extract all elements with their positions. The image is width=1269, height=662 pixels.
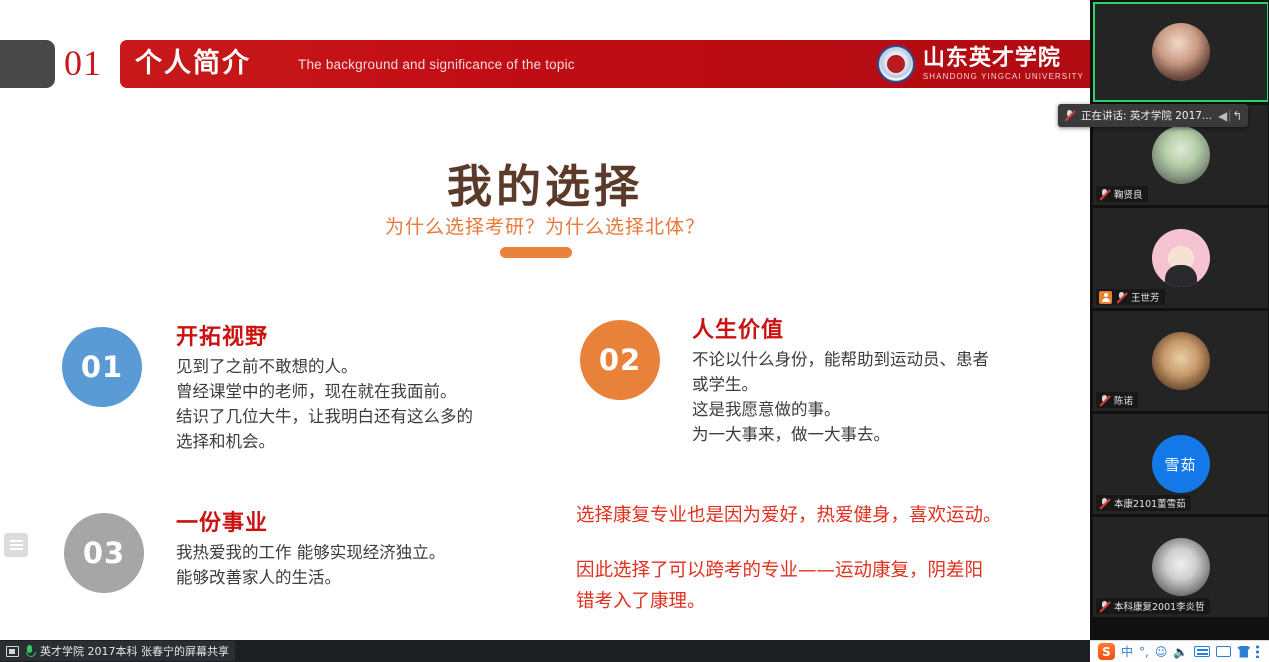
slide-subtitle: 为什么选择考研？为什么选择北体？ <box>0 212 1090 239</box>
red-note-line-2: 因此选择了可以跨考的专业——运动康复，阴差阳 <box>576 555 983 586</box>
ime-language-mode[interactable]: 中 <box>1121 646 1133 658</box>
mic-muted-icon <box>1099 497 1110 510</box>
header-english-subtitle: The background and significance of the t… <box>298 40 575 88</box>
block-heading-03: 一份事业 <box>176 505 445 537</box>
block-line: 或学生。 <box>692 372 989 397</box>
participant-tile[interactable]: 陈诺 <box>1093 311 1268 411</box>
red-note-line-1: 选择康复专业也是因为爱好，热爱健身，喜欢运动。 <box>576 500 1002 531</box>
participant-name: 鞠贤良 <box>1114 187 1143 201</box>
header-section-number: 01 <box>64 39 102 87</box>
block-heading-02: 人生价值 <box>692 312 989 344</box>
taskbar: 英才学院 2017本科 张春宁的屏幕共享 <box>0 640 1269 662</box>
university-logo: 山东英才学院 SHANDONG YINGCAI UNIVERSITY <box>877 40 1084 88</box>
host-icon <box>1099 291 1112 304</box>
slide-menu-button[interactable] <box>4 533 28 557</box>
avatar <box>1152 23 1210 81</box>
participant-label: 陈诺 <box>1096 392 1138 408</box>
participant-tile[interactable]: 本科康复2001李炎哲 <box>1093 517 1268 617</box>
mic-muted-icon <box>1064 109 1075 122</box>
taskbar-window-title: 英才学院 2017本科 张春宁的屏幕共享 <box>40 643 229 659</box>
block-number-circle-01: 01 <box>62 327 142 407</box>
ime-punctuation-icon[interactable]: °, <box>1139 646 1149 658</box>
participant-label: 鞠贤良 <box>1096 186 1148 202</box>
block-number-circle-02: 02 <box>580 320 660 400</box>
screen-share-icon <box>6 646 19 657</box>
avatar <box>1152 229 1210 287</box>
participant-tile[interactable] <box>1093 2 1268 102</box>
ime-menu-icon[interactable] <box>1256 645 1259 658</box>
university-name-cn: 山东英才学院 <box>923 46 1084 71</box>
mic-muted-icon <box>1099 394 1110 407</box>
block-line: 能够改善家人的生活。 <box>176 565 445 590</box>
university-logo-text: 山东英才学院 SHANDONG YINGCAI UNIVERSITY <box>923 46 1084 82</box>
block-line: 见到了之前不敢想的人。 <box>176 354 473 379</box>
avatar <box>1152 538 1210 596</box>
block-line: 结识了几位大牛，让我明白还有这么多的 <box>176 404 473 429</box>
participant-tile[interactable]: 雪茹 本康2101董雪茹 <box>1093 414 1268 514</box>
block-line: 曾经课堂中的老师，现在就在我面前。 <box>176 379 473 404</box>
tooltip-controls[interactable]: ◀ ↰ <box>1218 109 1242 123</box>
participant-name: 本康2101董雪茹 <box>1114 496 1186 510</box>
collapse-icon[interactable]: ↰ <box>1232 109 1242 123</box>
ime-voice-icon[interactable]: 🔈 <box>1173 646 1188 658</box>
sogou-logo-icon[interactable]: S <box>1098 643 1115 660</box>
participant-name: 王世芳 <box>1131 290 1160 304</box>
header-dark-block <box>0 40 55 88</box>
participant-tile[interactable]: 王世芳 <box>1093 208 1268 308</box>
red-note-line-3: 错考入了康理。 <box>576 586 706 617</box>
participant-label: 王世芳 <box>1096 289 1165 305</box>
list-icon <box>10 544 23 546</box>
university-name-en: SHANDONG YINGCAI UNIVERSITY <box>923 71 1084 82</box>
participant-name: 本科康复2001李炎哲 <box>1114 599 1205 613</box>
block-body-02: 人生价值 不论以什么身份，能帮助到运动员、患者 或学生。 这是我愿意做的事。 为… <box>692 312 989 447</box>
active-speaker-tooltip[interactable]: 正在讲话: 英才学院 2017... ◀ ↰ <box>1058 104 1248 127</box>
ime-keyboard-icon[interactable] <box>1194 646 1210 657</box>
divider <box>1229 110 1230 122</box>
slide-title: 我的选择 <box>0 150 1090 215</box>
university-seal-icon <box>877 45 915 83</box>
block-line: 这是我愿意做的事。 <box>692 397 989 422</box>
avatar <box>1152 126 1210 184</box>
prev-page-icon[interactable]: ◀ <box>1218 109 1227 123</box>
participant-label: 本康2101董雪茹 <box>1096 495 1191 511</box>
block-body-03: 一份事业 我热爱我的工作 能够实现经济独立。 能够改善家人的生活。 <box>176 505 445 590</box>
shared-slide: 01 个人简介 The background and significance … <box>0 0 1090 640</box>
ime-card-icon[interactable] <box>1216 646 1231 657</box>
active-speaker-text: 正在讲话: 英才学院 2017... <box>1081 108 1212 123</box>
participant-name: 陈诺 <box>1114 393 1133 407</box>
title-underline-bar <box>500 247 572 258</box>
block-number-circle-03: 03 <box>64 513 144 593</box>
block-line: 为一大事来，做一大事去。 <box>692 422 989 447</box>
mic-muted-icon <box>1116 291 1127 304</box>
ime-emoji-icon[interactable]: ☺ <box>1155 646 1168 658</box>
slide-header: 01 个人简介 The background and significance … <box>0 38 1090 90</box>
taskbar-window-item[interactable]: 英才学院 2017本科 张春宁的屏幕共享 <box>0 641 235 661</box>
block-line: 不论以什么身份，能帮助到运动员、患者 <box>692 347 989 372</box>
avatar <box>1152 332 1210 390</box>
mic-muted-icon <box>1099 188 1110 201</box>
block-heading-01: 开拓视野 <box>176 319 473 351</box>
block-line: 选择和机会。 <box>176 429 473 454</box>
avatar-initials: 雪茹 <box>1152 435 1210 493</box>
ime-toolbar[interactable]: S 中 °, ☺ 🔈 <box>1090 640 1269 662</box>
mic-muted-icon <box>1099 600 1110 613</box>
header-chinese-title: 个人简介 <box>135 40 251 88</box>
participant-label: 本科康复2001李炎哲 <box>1096 598 1210 614</box>
block-line: 我热爱我的工作 能够实现经济独立。 <box>176 540 445 565</box>
screen-share-window: 01 个人简介 The background and significance … <box>0 0 1269 662</box>
ime-skin-icon[interactable] <box>1237 646 1250 658</box>
block-body-01: 开拓视野 见到了之前不敢想的人。 曾经课堂中的老师，现在就在我面前。 结识了几位… <box>176 319 473 454</box>
participant-video-strip[interactable]: 鞠贤良 王世芳 陈诺 雪茹 本康2101董雪茹 <box>1090 0 1269 640</box>
microphone-icon <box>24 645 35 658</box>
